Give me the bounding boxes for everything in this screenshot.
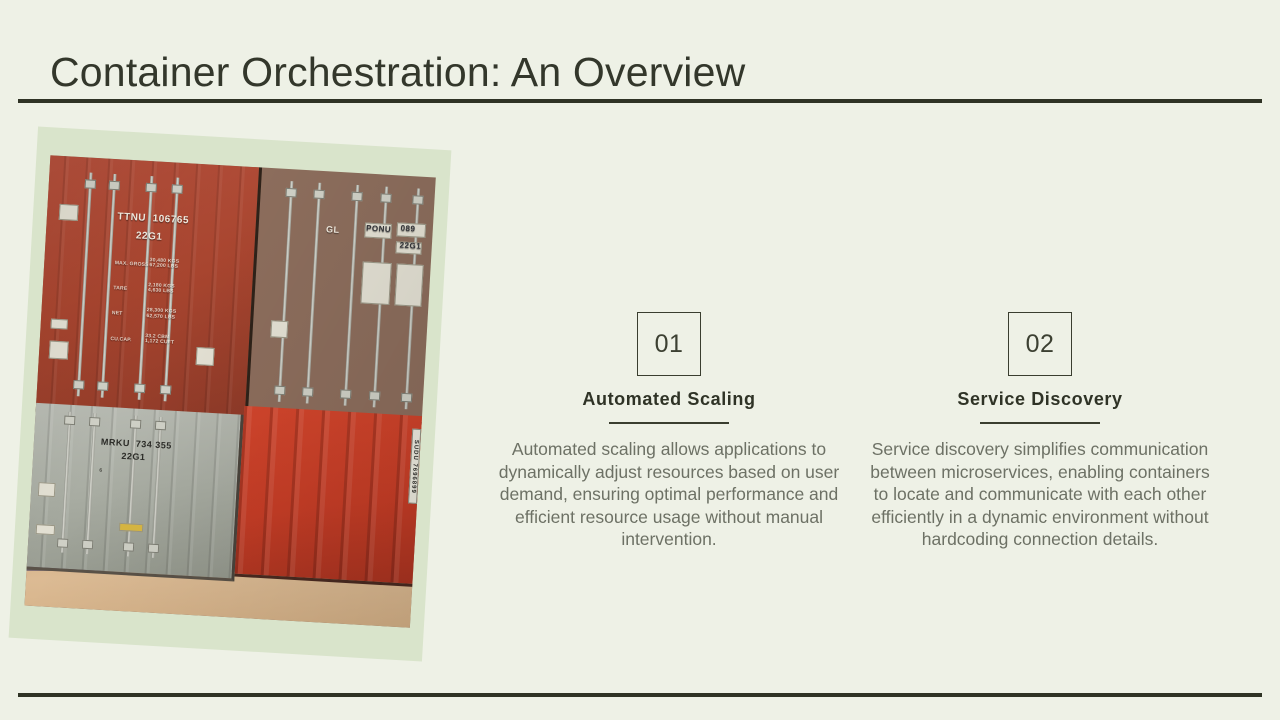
- lock-rod-icon: [77, 173, 93, 396]
- photo-tare-value: 2,180 KGS 4,630 LBS: [148, 283, 175, 295]
- photo-container-type: 22G1: [399, 242, 421, 252]
- footer-divider-rule: [18, 693, 1262, 697]
- lock-rod-icon: [60, 411, 71, 552]
- photo-container-vertical-code: SUDU 7696899: [408, 429, 421, 503]
- feature-title-1: Automated Scaling: [489, 389, 849, 410]
- photo-weights-block: 6: [99, 469, 102, 474]
- photo-net-value: 28,300 KGS 62,570 LBS: [146, 308, 176, 320]
- photo-maxgross-label: MAX. GROSS: [115, 261, 149, 268]
- feature-number-badge-1: 01: [637, 312, 701, 376]
- photo-frame: TTNU 106765 22G1 MAX. GROSS 30,480 KGS 6…: [9, 127, 452, 662]
- photo-container-owner: PONU: [366, 225, 392, 235]
- photo-placard: [38, 482, 56, 498]
- lock-rod-icon: [278, 181, 294, 401]
- feature-number-badge-2: 02: [1008, 312, 1072, 376]
- photo-cube-value: 33.2 CBM 1,172 CUFT: [145, 334, 175, 346]
- lock-rod-icon: [126, 415, 137, 556]
- photo-placard-yellow: [119, 523, 143, 533]
- feature-column-1: 01 Automated Scaling Automated scaling a…: [489, 312, 849, 551]
- photo-container-code: TTNU 106765: [117, 213, 189, 228]
- photo-placard: [50, 318, 68, 329]
- lock-rod-icon: [305, 183, 321, 403]
- lock-rod-icon: [86, 413, 97, 554]
- feature-body-2: Service discovery simplifies communicati…: [860, 438, 1220, 551]
- title-divider-rule: [18, 99, 1262, 103]
- photo-placard: [394, 264, 424, 307]
- photo-placard: [48, 341, 69, 360]
- photo-container-badge: GL: [326, 225, 340, 235]
- photo-tare-label: TARE: [113, 286, 127, 292]
- photo-maxgross-value: 30,480 KGS 67,200 LBS: [149, 258, 179, 270]
- photo-container-red-top: TTNU 106765 22G1 MAX. GROSS 30,480 KGS 6…: [28, 155, 262, 424]
- photo-container-code: 089: [400, 225, 415, 234]
- feature-title-2: Service Discovery: [860, 389, 1220, 410]
- feature-column-2: 02 Service Discovery Service discovery s…: [860, 312, 1220, 551]
- feature-divider-1: [609, 422, 729, 424]
- photo-container-type: 22G1: [136, 231, 163, 243]
- lock-rod-icon: [152, 417, 163, 558]
- photo-placard: [271, 320, 288, 338]
- photo-placard: [59, 204, 79, 220]
- slide-root: Container Orchestration: An Overview T: [0, 0, 1280, 720]
- photo-container-type: 22G1: [121, 452, 146, 463]
- photo-scene: TTNU 106765 22G1 MAX. GROSS 30,480 KGS 6…: [24, 155, 435, 627]
- photo-placard: [196, 347, 214, 366]
- lock-rod-icon: [343, 185, 359, 405]
- photo-net-label: NET: [112, 312, 123, 318]
- page-title: Container Orchestration: An Overview: [50, 49, 1170, 96]
- photo-cube-label: CU.CAP.: [110, 337, 132, 343]
- photo-container-blue-top: PONU 089 22G1 GL: [248, 167, 436, 425]
- photo-placard: [360, 262, 391, 305]
- container-photo: TTNU 106765 22G1 MAX. GROSS 30,480 KGS 6…: [24, 155, 435, 627]
- photo-container-grey-bottom: MRKU 734 355 22G1 6: [24, 402, 244, 581]
- feature-body-1: Automated scaling allows applications to…: [489, 438, 849, 551]
- photo-container-code: MRKU 734 355: [101, 438, 172, 452]
- feature-divider-2: [980, 422, 1100, 424]
- photo-placard: [36, 524, 56, 535]
- photo-container-red-bottom: SUDU 7696899: [235, 406, 430, 588]
